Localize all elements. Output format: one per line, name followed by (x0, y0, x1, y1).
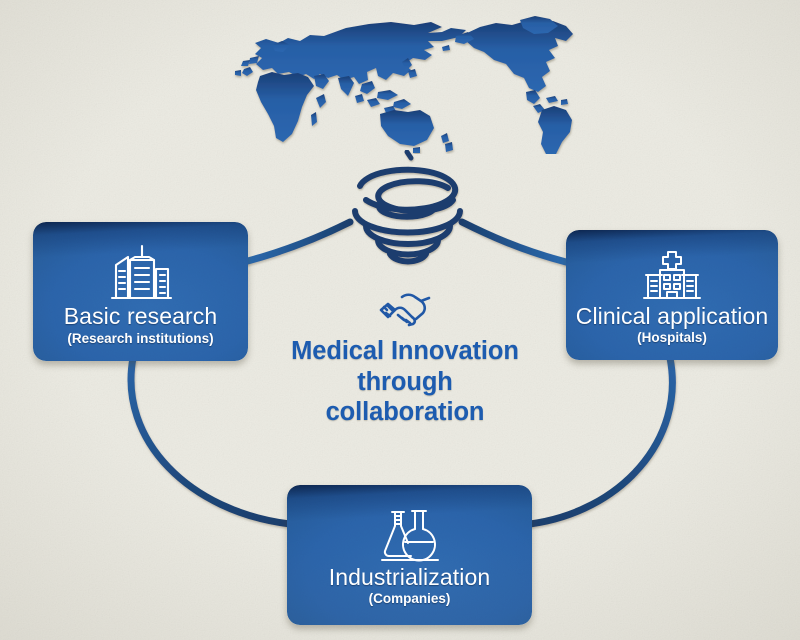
lab-flasks-icon (378, 507, 442, 565)
infographic-canvas: Basic research (Research institutions) (0, 0, 800, 640)
node-title: Basic research (64, 304, 218, 328)
connector-basic-to-vortex (244, 222, 350, 262)
node-industrialization[interactable]: Industrialization (Companies) (287, 485, 532, 625)
handshake-icon (376, 288, 434, 330)
node-subtitle: (Hospitals) (637, 331, 707, 346)
node-title: Clinical application (576, 304, 769, 328)
node-clinical-application[interactable]: Clinical application (Hospitals) (566, 230, 778, 360)
connector-clinical-to-vortex (462, 222, 566, 262)
node-subtitle: (Companies) (369, 592, 451, 607)
office-buildings-icon (109, 244, 173, 304)
node-basic-research[interactable]: Basic research (Research institutions) (33, 222, 248, 361)
node-subtitle: (Research institutions) (67, 332, 213, 347)
hospital-building-icon (642, 248, 702, 304)
center-headline: Medical Innovation through collaboration (255, 336, 555, 428)
center-message: Medical Innovation through collaboration (255, 288, 555, 428)
node-title: Industrialization (329, 565, 491, 589)
